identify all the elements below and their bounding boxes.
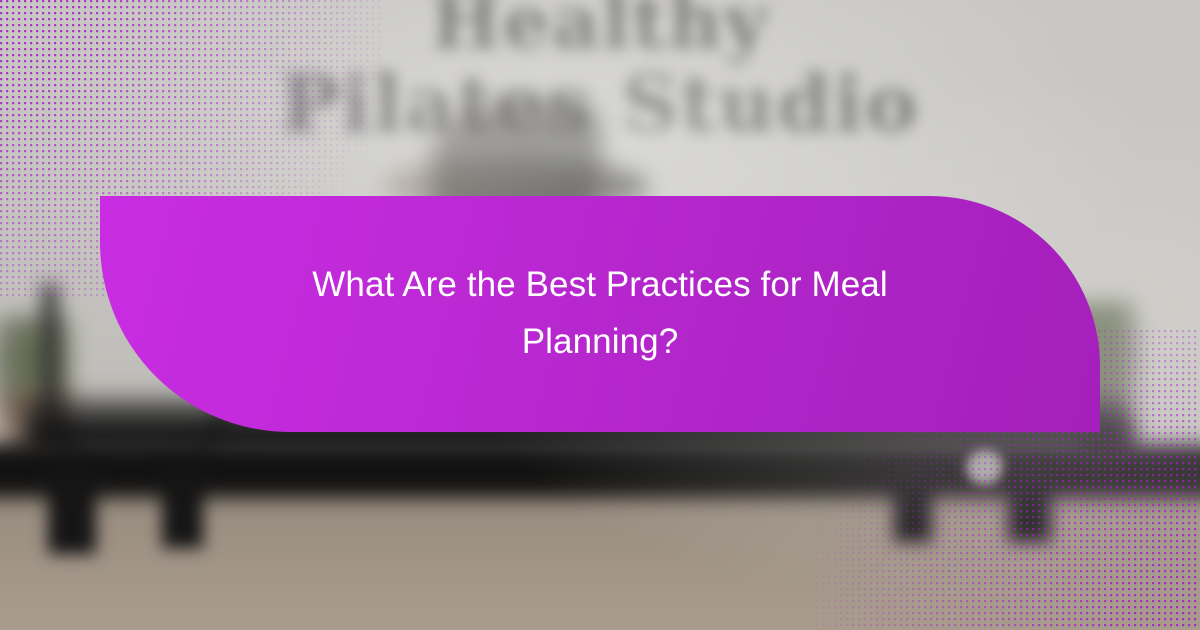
title-banner: What Are the Best Practices for Meal Pla… bbox=[100, 196, 1100, 432]
page-title: What Are the Best Practices for Meal Pla… bbox=[270, 257, 930, 370]
share-card-canvas: Healthy Pilates Studio What Are bbox=[0, 0, 1200, 630]
